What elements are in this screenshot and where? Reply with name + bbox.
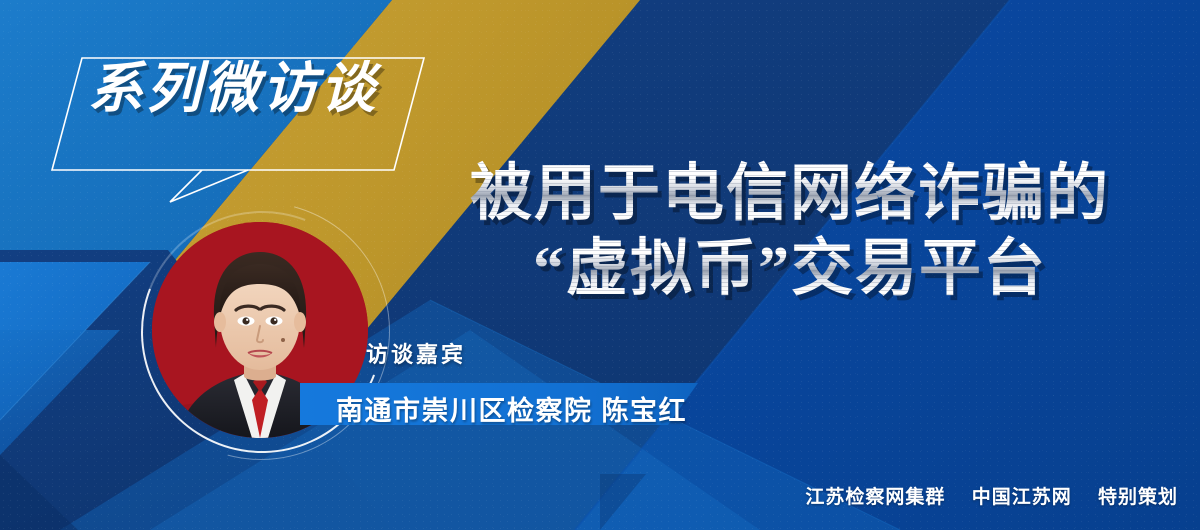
footer-item-1: 江苏检察网集群 — [805, 487, 945, 508]
headline-line-2: “虚拟币”交易平台 — [440, 235, 1140, 304]
footer-item-3: 特别策划 — [1098, 487, 1178, 508]
headline-line-1: 被用于电信网络诈骗的 — [440, 160, 1140, 229]
interview-banner: 系列微访谈 被用于电信网络诈骗的 “虚拟币”交易平台 — [0, 0, 1200, 530]
page-title: 被用于电信网络诈骗的 “虚拟币”交易平台 — [440, 160, 1140, 305]
footer-item-2: 中国江苏网 — [972, 487, 1072, 508]
guest-role-label: 访谈嘉宾 — [366, 337, 466, 369]
guest-name-text: 南通市崇川区检察院 陈宝红 — [336, 389, 687, 428]
kicker-title: 系列微访谈 — [88, 60, 418, 118]
footer-credits: 江苏检察网集群 中国江苏网 特别策划 — [805, 482, 1178, 509]
